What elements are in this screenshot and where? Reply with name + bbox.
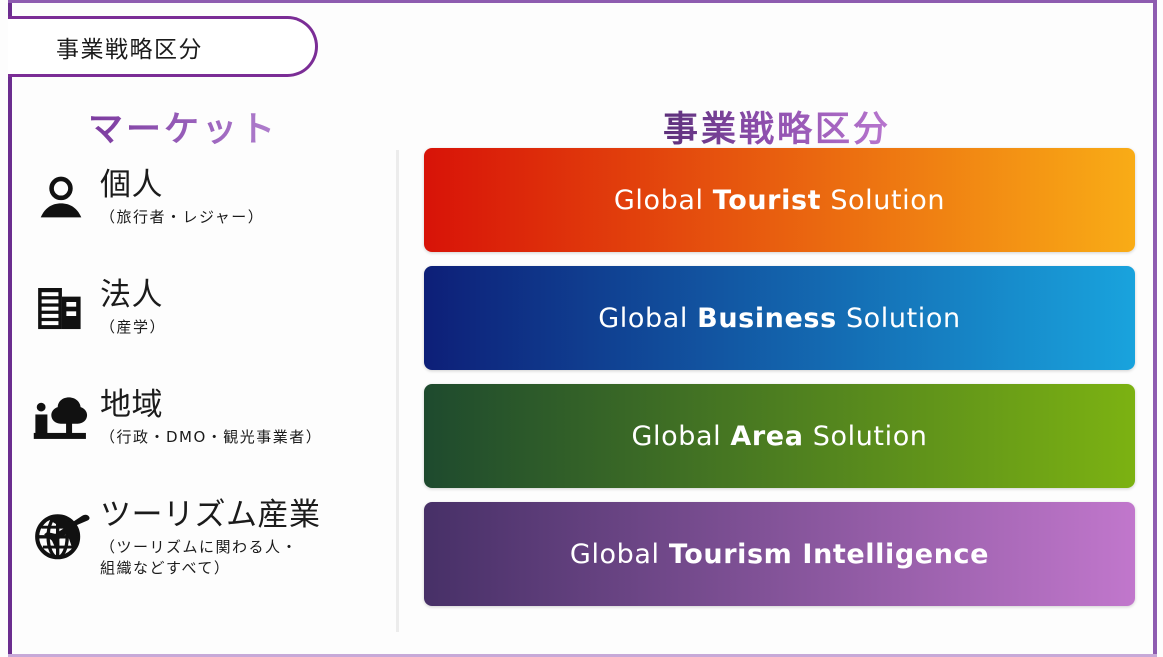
solution-bar-label: Global Tourist Solution: [614, 185, 945, 216]
market-item-individual: 個人 （旅行者・レジャー）: [22, 165, 392, 275]
market-item-text: 個人 （旅行者・レジャー）: [100, 165, 264, 228]
slide-canvas: 事業戦略区分 マーケット 事業戦略区分 個人 （旅行者・レジャー）: [0, 0, 1163, 657]
solution-bar-tourist[interactable]: Global Tourist Solution: [424, 148, 1135, 252]
solution-bar-keyword: Tourism Intelligence: [669, 539, 989, 570]
market-item-title: 法人: [100, 277, 166, 314]
market-list: 個人 （旅行者・レジャー） 法人 （産学: [22, 165, 392, 605]
market-item-corporate: 法人 （産学）: [22, 275, 392, 385]
building-icon: [22, 275, 100, 337]
solution-bar-keyword: Business: [697, 303, 837, 334]
market-item-title: 地域: [100, 387, 322, 424]
market-item-region: 地域 （行政・DMO・観光事業者）: [22, 385, 392, 495]
solution-bar-label: Global Area Solution: [631, 421, 927, 452]
market-item-text: ツーリズム産業 （ツーリズムに関わる人・ 組織などすべて）: [100, 495, 321, 580]
frame-border-top: [8, 0, 1157, 3]
park-tree-person-icon: [22, 385, 100, 449]
solution-bar-label: Global Tourism Intelligence: [570, 539, 989, 570]
market-column-heading: マーケット: [88, 101, 278, 152]
market-item-title: 個人: [100, 167, 264, 204]
solution-bar-tourism-intelligence[interactable]: Global Tourism Intelligence: [424, 502, 1135, 606]
solution-bar-suffix: Solution: [837, 303, 961, 334]
market-item-subtitle: （産学）: [100, 317, 166, 339]
solution-bar-prefix: Global: [570, 539, 669, 570]
market-item-subtitle: （ツーリズムに関わる人・ 組織などすべて）: [100, 537, 321, 581]
solution-bar-prefix: Global: [614, 185, 713, 216]
solution-bar-area[interactable]: Global Area Solution: [424, 384, 1135, 488]
person-icon: [22, 165, 100, 229]
market-item-subtitle: （行政・DMO・観光事業者）: [100, 427, 322, 449]
globe-airplane-icon: [22, 495, 100, 563]
solution-bar-label: Global Business Solution: [598, 303, 961, 334]
solution-bar-suffix: Solution: [804, 421, 928, 452]
market-item-text: 法人 （産学）: [100, 275, 166, 338]
section-tab-badge: 事業戦略区分: [8, 16, 318, 77]
market-item-title: ツーリズム産業: [100, 497, 321, 534]
solution-bar-prefix: Global: [598, 303, 697, 334]
column-divider: [396, 150, 399, 632]
market-item-tourism-industry: ツーリズム産業 （ツーリズムに関わる人・ 組織などすべて）: [22, 495, 392, 605]
segments-column-heading: 事業戦略区分: [663, 101, 891, 152]
solution-bar-prefix: Global: [631, 421, 730, 452]
solution-bar-suffix: Solution: [821, 185, 945, 216]
section-tab-label: 事業戦略区分: [56, 30, 203, 64]
solution-bar-keyword: Area: [730, 421, 803, 452]
market-item-text: 地域 （行政・DMO・観光事業者）: [100, 385, 322, 448]
solution-bar-keyword: Tourist: [713, 185, 821, 216]
solution-bar-business[interactable]: Global Business Solution: [424, 266, 1135, 370]
frame-border-right: [1153, 0, 1157, 657]
market-item-subtitle: （旅行者・レジャー）: [100, 207, 264, 229]
frame-border-left: [8, 0, 12, 657]
solution-bar-list: Global Tourist Solution Global Business …: [424, 148, 1135, 620]
